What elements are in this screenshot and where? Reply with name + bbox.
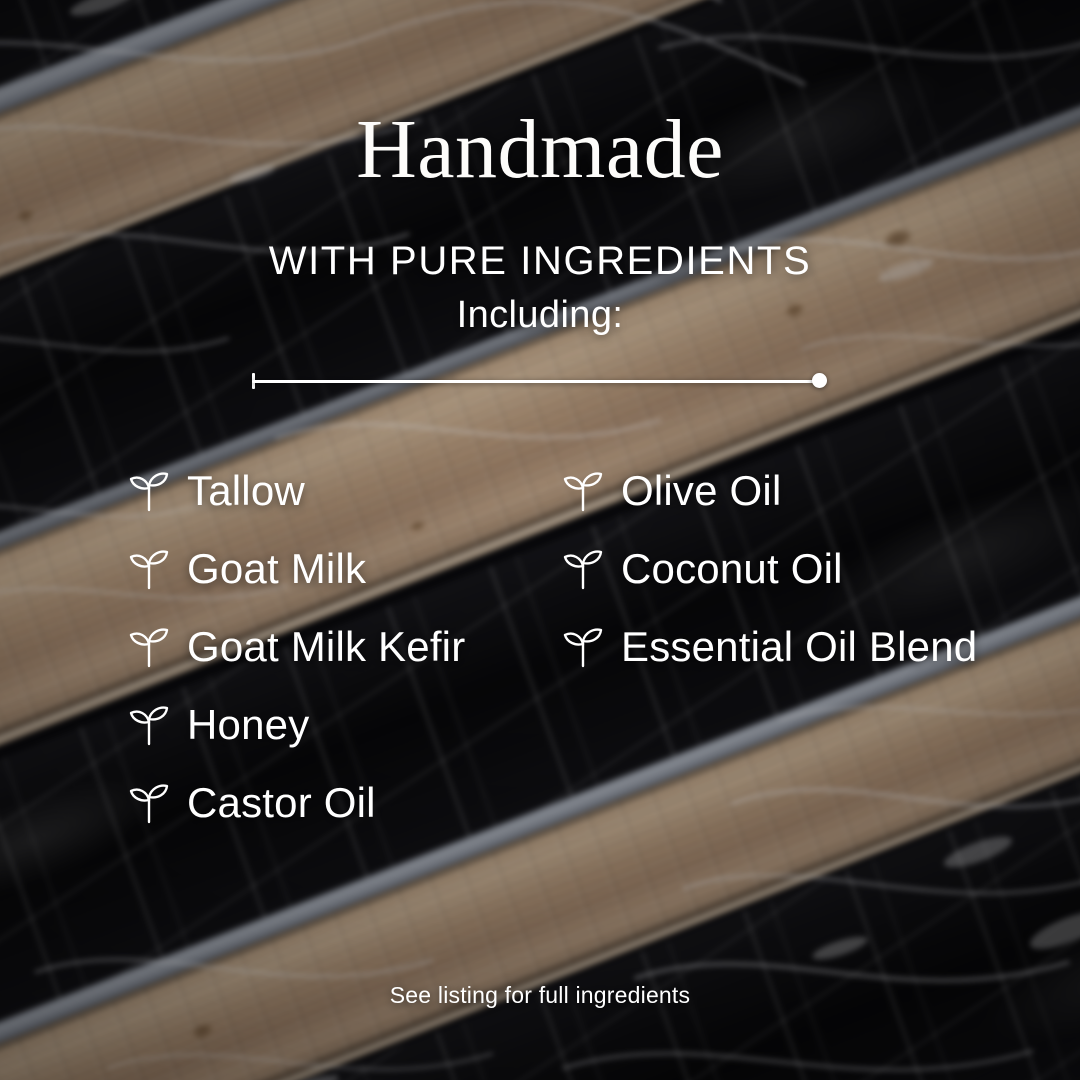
- content-layer: Handmade WITH PURE INGREDIENTS Including…: [0, 0, 1080, 1080]
- list-item-label: Castor Oil: [187, 782, 376, 824]
- list-item-label: Goat Milk: [187, 548, 366, 590]
- list-item: Essential Oil Blend: [562, 608, 977, 686]
- sprout-icon: [562, 625, 604, 669]
- list-item: Coconut Oil: [562, 530, 977, 608]
- list-item: Olive Oil: [562, 452, 977, 530]
- ingredients-graphic: Handmade WITH PURE INGREDIENTS Including…: [0, 0, 1080, 1080]
- list-item-label: Goat Milk Kefir: [187, 626, 465, 668]
- sprout-icon: [128, 625, 170, 669]
- list-item: Goat Milk: [128, 530, 465, 608]
- ingredients-left-column: Tallow Goat Milk: [128, 452, 465, 842]
- list-item: Castor Oil: [128, 764, 465, 842]
- list-item-label: Honey: [187, 704, 309, 746]
- ingredients-columns: Tallow Goat Milk: [0, 0, 1080, 1080]
- list-item: Tallow: [128, 452, 465, 530]
- footer-note: See listing for full ingredients: [0, 982, 1080, 1009]
- sprout-icon: [128, 781, 170, 825]
- ingredients-right-column: Olive Oil Coconut Oil: [562, 452, 977, 686]
- list-item-label: Tallow: [187, 470, 305, 512]
- sprout-icon: [562, 547, 604, 591]
- sprout-icon: [128, 703, 170, 747]
- sprout-icon: [128, 547, 170, 591]
- list-item-label: Olive Oil: [621, 470, 782, 512]
- sprout-icon: [562, 469, 604, 513]
- list-item-label: Essential Oil Blend: [621, 626, 977, 668]
- list-item: Goat Milk Kefir: [128, 608, 465, 686]
- list-item-label: Coconut Oil: [621, 548, 843, 590]
- sprout-icon: [128, 469, 170, 513]
- list-item: Honey: [128, 686, 465, 764]
